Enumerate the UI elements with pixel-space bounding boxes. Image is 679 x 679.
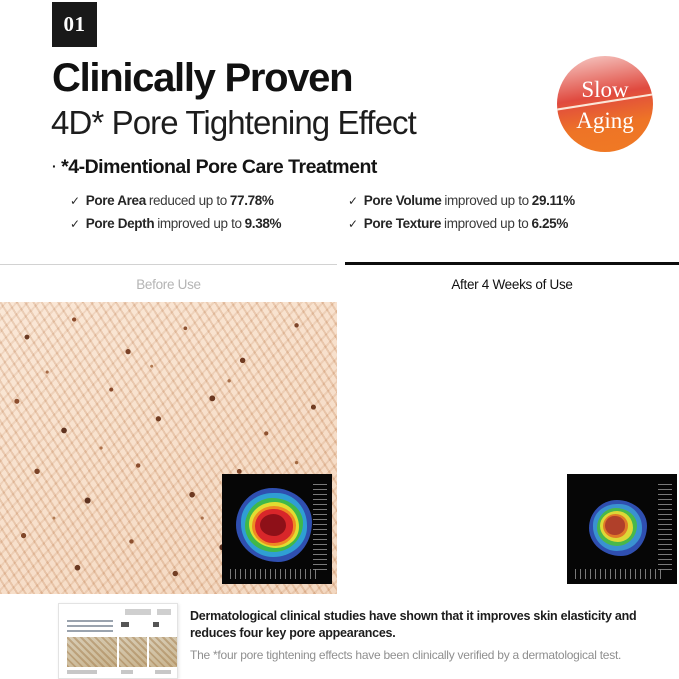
claim-middle: improved up to — [444, 216, 528, 231]
claim-middle: improved up to — [444, 193, 528, 208]
claim-value: 6.25% — [531, 216, 568, 231]
report-micrograph-3 — [149, 637, 177, 667]
tagline-text: *4-Dimentional Pore Care Treatment — [61, 156, 377, 178]
heatmap-core-red — [605, 516, 625, 535]
step-number-text: 01 — [64, 12, 86, 37]
check-icon: ✓ — [348, 194, 358, 208]
check-icon: ✓ — [70, 217, 80, 231]
claim-value: 9.38% — [245, 216, 282, 231]
comparison-photos — [0, 302, 679, 594]
claims-list: ✓ Pore Area reduced up to 77.78% ✓ Pore … — [70, 193, 670, 231]
clinical-report-thumbnail — [58, 603, 178, 679]
footnote-text-block: Dermatological clinical studies have sho… — [190, 608, 660, 664]
check-icon: ✓ — [70, 194, 80, 208]
heatmap-core-dark-red — [260, 514, 286, 536]
claim-middle: reduced up to — [149, 193, 227, 208]
slow-aging-seal: Slow Aging — [557, 56, 653, 152]
claim-item: ✓ Pore Volume improved up to 29.11% — [348, 193, 638, 208]
claim-value: 29.11% — [532, 193, 575, 208]
heatmap-vertical-scale — [658, 484, 672, 570]
claim-label: Pore Volume — [364, 193, 442, 208]
claim-middle: improved up to — [157, 216, 241, 231]
seal-line-2: Aging — [557, 109, 653, 132]
claim-item: ✓ Pore Depth improved up to 9.38% — [70, 216, 348, 231]
heatmap-vertical-scale — [313, 484, 327, 570]
page-subtitle: 4D* Pore Tightening Effect — [51, 106, 416, 139]
tagline-bullet-icon: · — [52, 158, 56, 174]
footnote-primary: Dermatological clinical studies have sho… — [190, 608, 660, 641]
tagline: ·*4-Dimentional Pore Care Treatment — [52, 158, 377, 178]
step-number-badge: 01 — [52, 2, 97, 47]
before-pore-heatmap — [222, 474, 332, 584]
report-micrograph-1 — [67, 637, 117, 667]
page-title: Clinically Proven — [52, 58, 352, 98]
report-micrograph-2 — [119, 637, 147, 667]
report-cell-value-1 — [121, 622, 129, 627]
after-divider-rule — [345, 262, 679, 265]
seal-line-1: Slow — [557, 78, 653, 101]
claim-value: 77.78% — [230, 193, 274, 208]
after-pore-heatmap — [567, 474, 677, 584]
claim-item: ✓ Pore Texture improved up to 6.25% — [348, 216, 638, 231]
report-footer-row — [67, 670, 171, 674]
after-photo-panel — [345, 302, 679, 594]
report-row-label — [67, 620, 113, 634]
check-icon: ✓ — [348, 217, 358, 231]
claim-label: Pore Area — [86, 193, 146, 208]
claim-label: Pore Depth — [86, 216, 155, 231]
after-label: After 4 Weeks of Use — [345, 277, 679, 292]
claim-item: ✓ Pore Area reduced up to 77.78% — [70, 193, 348, 208]
before-photo-panel — [0, 302, 337, 594]
footnote-secondary: The *four pore tightening effects have b… — [190, 648, 660, 664]
heatmap-horizontal-scale — [575, 569, 661, 579]
before-divider-rule — [0, 264, 337, 265]
before-label: Before Use — [0, 277, 337, 292]
report-cell-value-2 — [153, 622, 159, 627]
report-header-row — [67, 609, 171, 615]
footnote-section: Dermatological clinical studies have sho… — [0, 594, 679, 679]
heatmap-horizontal-scale — [230, 569, 316, 579]
claim-label: Pore Texture — [364, 216, 441, 231]
